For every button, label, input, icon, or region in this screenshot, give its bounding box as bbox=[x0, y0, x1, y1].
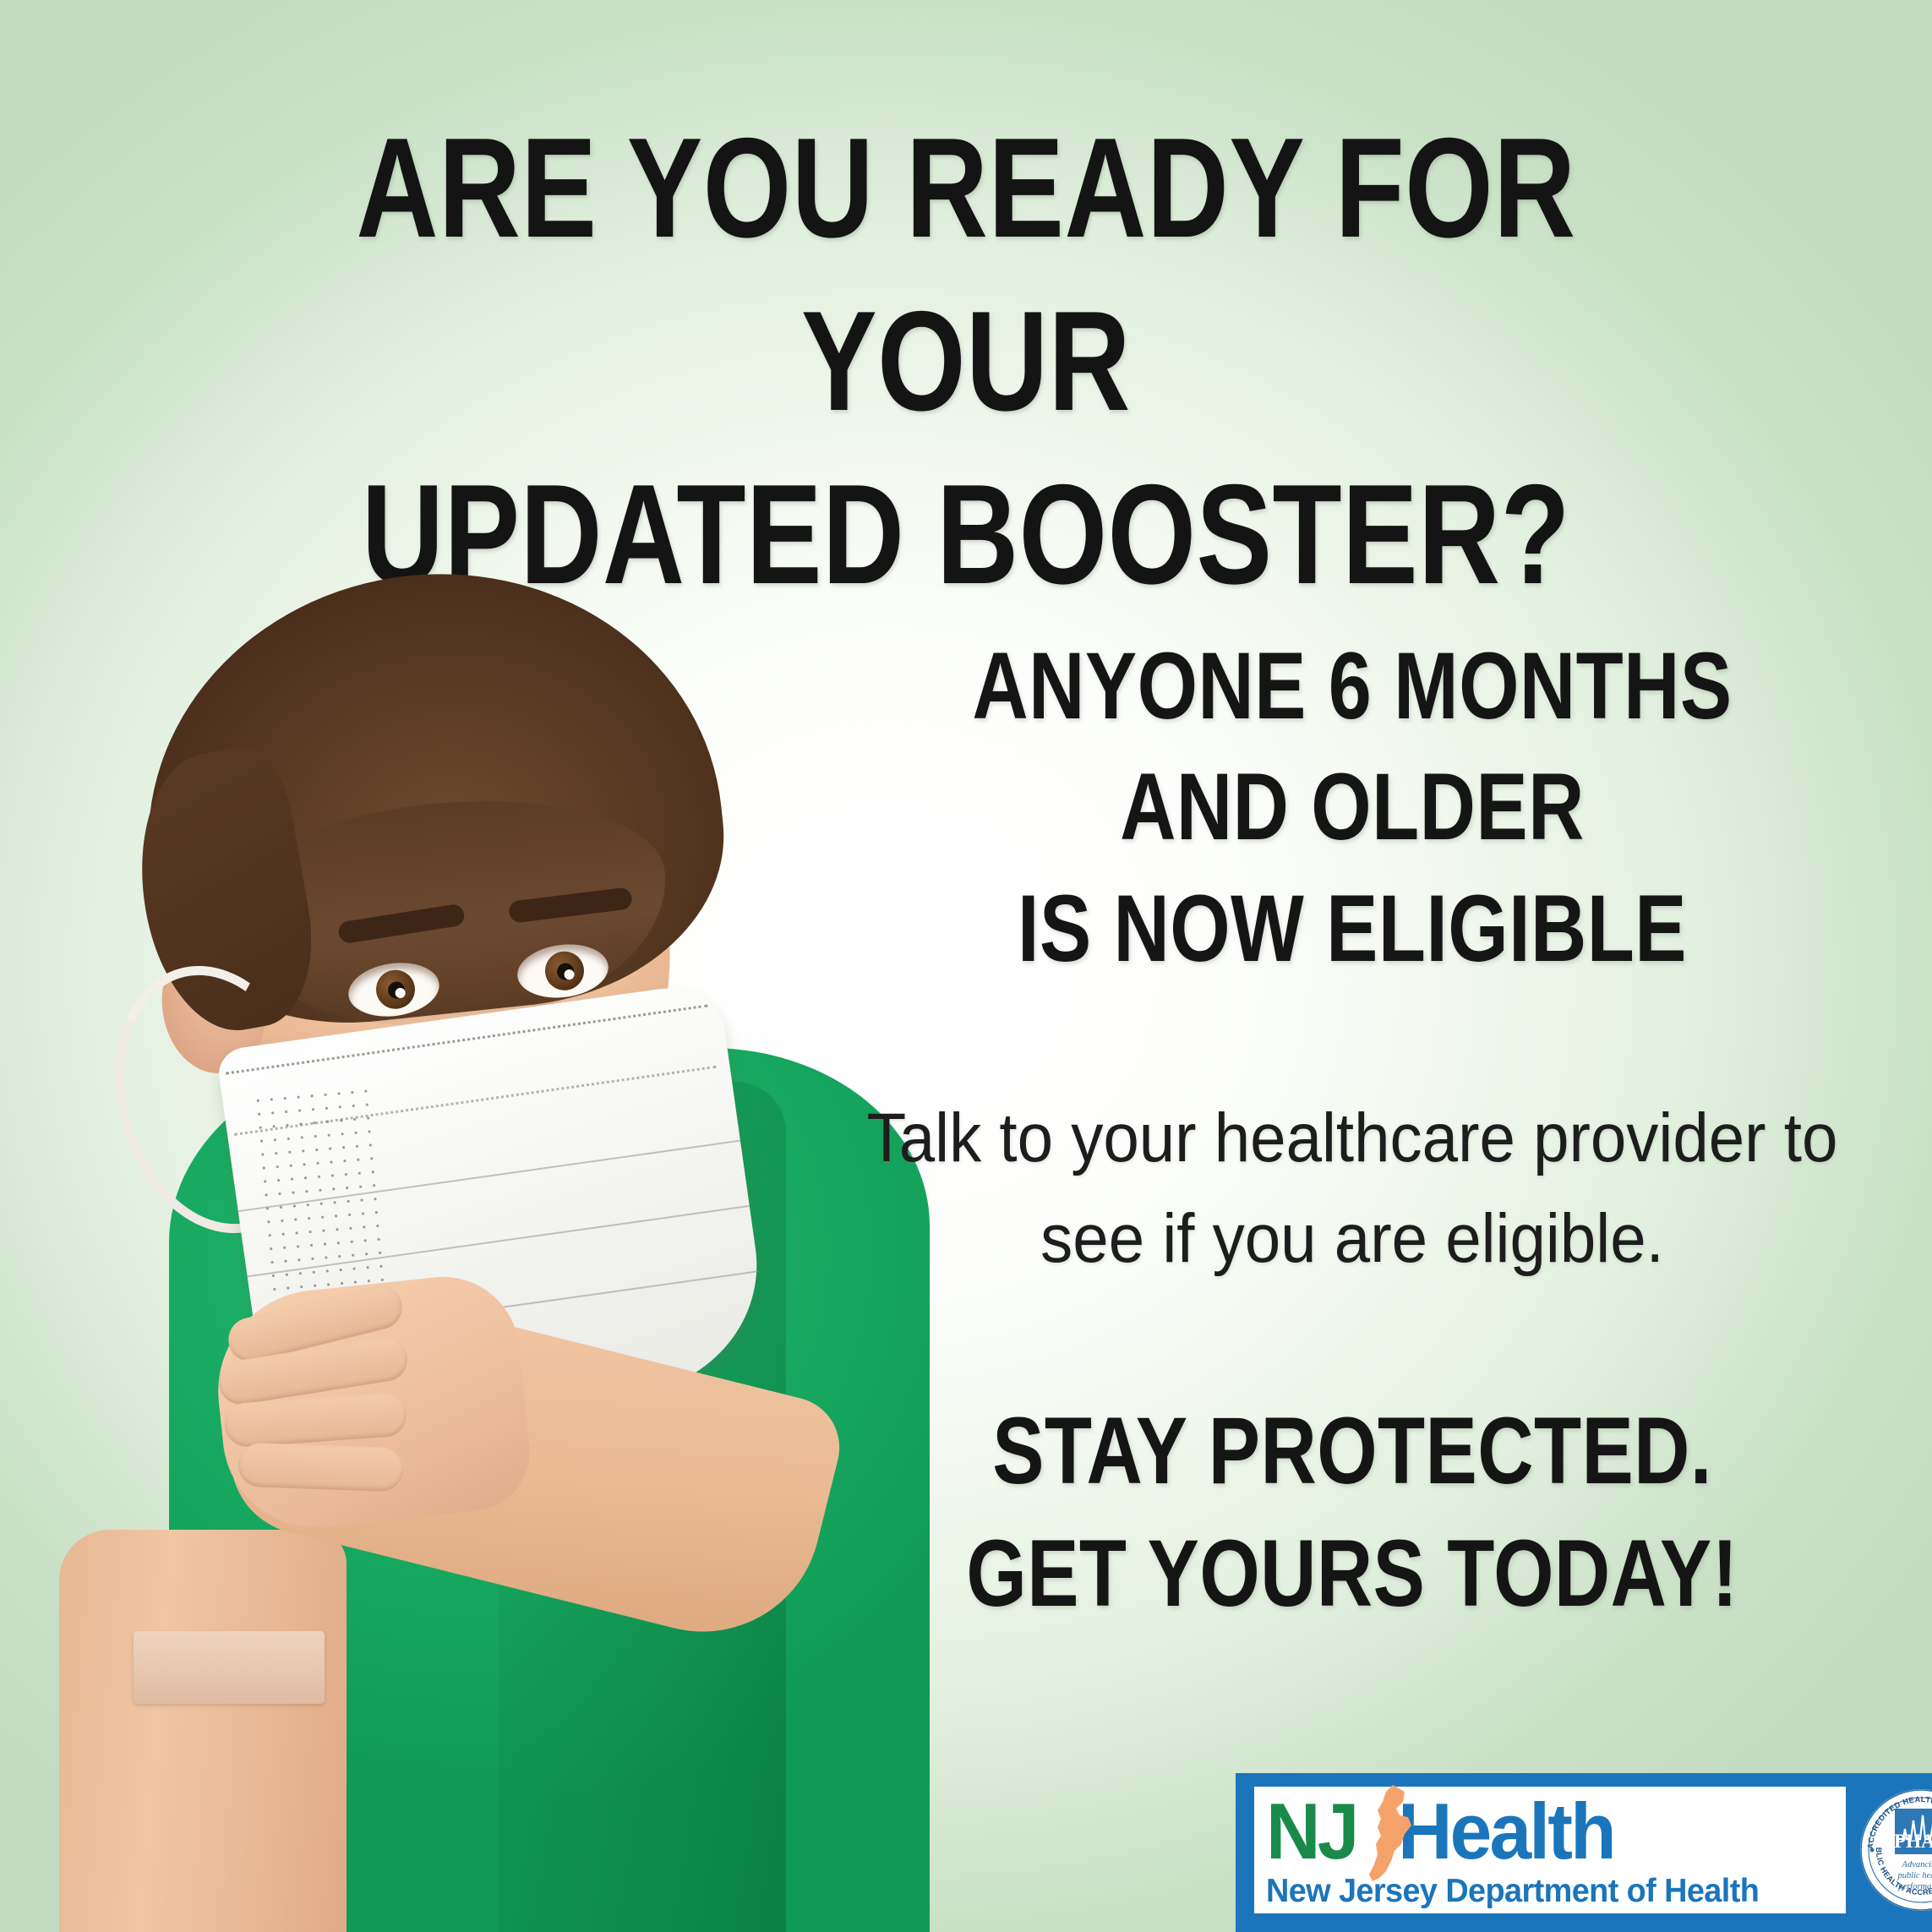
finger bbox=[237, 1443, 404, 1493]
logo-nj-text: NJ bbox=[1266, 1792, 1356, 1871]
message-column: ANYONE 6 MONTHS AND OLDER IS NOW ELIGIBL… bbox=[828, 625, 1876, 1635]
adhesive-bandage bbox=[134, 1631, 325, 1704]
new-jersey-state-icon bbox=[1361, 1783, 1423, 1885]
svg-text:performance: performance bbox=[1897, 1882, 1932, 1891]
nj-health-logo: NJ Health New Jersey Department of Healt… bbox=[1236, 1773, 1932, 1932]
logo-wordmark: NJ Health bbox=[1266, 1790, 1836, 1873]
eligibility-headline: ANYONE 6 MONTHS AND OLDER IS NOW ELIGIBL… bbox=[923, 625, 1782, 989]
eye-glint-left bbox=[395, 987, 407, 999]
eye-glint-right bbox=[564, 969, 575, 980]
logo-wordmark-panel: NJ Health New Jersey Department of Healt… bbox=[1254, 1787, 1846, 1913]
svg-text:public health: public health bbox=[1897, 1871, 1932, 1880]
iris-right bbox=[543, 949, 586, 992]
call-to-action: STAY PROTECTED. GET YOURS TODAY! bbox=[923, 1389, 1782, 1635]
iris-left bbox=[374, 968, 418, 1012]
upper-arm bbox=[59, 1530, 347, 1932]
phab-accreditation-seal: ACCREDITED HEALTH DEPARTMENT PUBLIC HEAL… bbox=[1858, 1787, 1932, 1913]
body-copy: Talk to your healthcare provider to see … bbox=[865, 1089, 1839, 1290]
pupil-right bbox=[556, 962, 575, 980]
poster-canvas: ARE YOU READY FOR YOUR UPDATED BOOSTER? bbox=[0, 0, 1932, 1932]
svg-text:Advancing: Advancing bbox=[1902, 1860, 1932, 1869]
logo-subtitle: New Jersey Department of Health bbox=[1266, 1875, 1819, 1907]
svg-text:PHAB: PHAB bbox=[1894, 1831, 1932, 1852]
pupil-left bbox=[387, 980, 407, 1000]
phab-seal-icon: ACCREDITED HEALTH DEPARTMENT PUBLIC HEAL… bbox=[1858, 1787, 1932, 1913]
logo-health-text: Health bbox=[1398, 1792, 1614, 1871]
